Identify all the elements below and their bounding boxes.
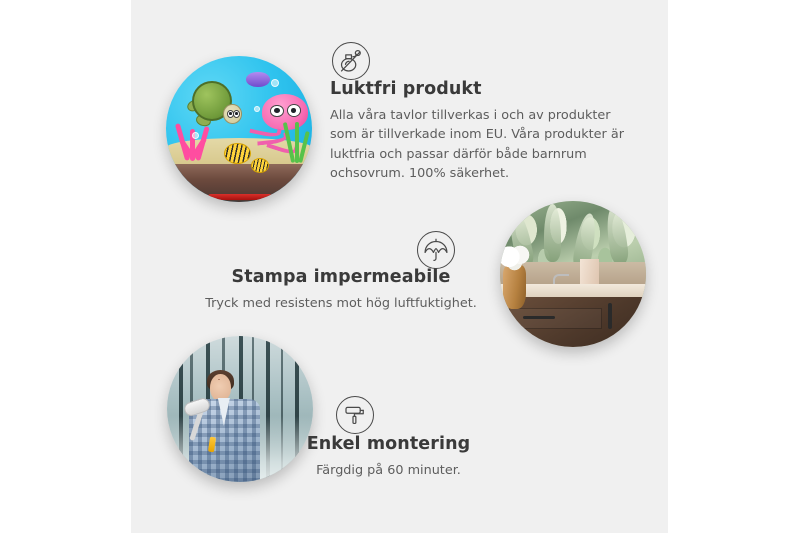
feature-heading: Luktfri produkt bbox=[330, 79, 626, 101]
octopus-eye bbox=[270, 105, 284, 118]
purple-fish bbox=[246, 72, 269, 87]
bubble bbox=[254, 106, 260, 112]
seaweed bbox=[284, 122, 307, 163]
underwater-cartoon-photo bbox=[166, 56, 312, 202]
bottom-strip bbox=[166, 164, 312, 202]
yellow-fish bbox=[251, 158, 269, 173]
content-panel: Luktfri produkt Alla våra tavlor tillver… bbox=[131, 0, 668, 533]
feature-easy-mounting-text: Enkel montering Färgdig på 60 minuter. bbox=[266, 434, 511, 480]
octopus-eye bbox=[287, 104, 301, 117]
feature-heading: Stampa impermeabile bbox=[191, 267, 491, 289]
feature-body: Tryck med resistens mot hög luftfuktighe… bbox=[191, 294, 491, 313]
red-object bbox=[207, 194, 274, 200]
no-fragrance-icon bbox=[332, 42, 370, 80]
face bbox=[210, 374, 230, 401]
vase bbox=[503, 265, 526, 309]
feature-body: Alla våra tavlor tillverkas i och av pro… bbox=[330, 106, 626, 184]
feature-waterproof-text: Stampa impermeabile Tryck med resistens … bbox=[191, 267, 491, 313]
bathroom-artwork bbox=[500, 201, 646, 347]
white-flowers bbox=[500, 245, 532, 271]
bubble bbox=[271, 79, 279, 87]
drawer-handle bbox=[523, 316, 555, 320]
promo-banner: Luktfri produkt Alla våra tavlor tillver… bbox=[0, 0, 800, 533]
paint-roller-icon bbox=[336, 396, 374, 434]
umbrella-icon bbox=[417, 231, 455, 269]
smile bbox=[218, 378, 220, 380]
turtle-head bbox=[223, 104, 242, 124]
sea-artwork bbox=[166, 56, 312, 202]
bathroom-wallpaper-photo bbox=[500, 201, 646, 347]
turtle bbox=[189, 81, 239, 125]
turtle-eye bbox=[233, 110, 240, 118]
feature-heading: Enkel montering bbox=[266, 434, 511, 456]
painter-person bbox=[187, 374, 263, 482]
door-handle bbox=[608, 303, 612, 329]
feature-body: Färgdig på 60 minuter. bbox=[266, 461, 511, 480]
feature-odourless-text: Luktfri produkt Alla våra tavlor tillver… bbox=[330, 79, 626, 184]
pink-coral bbox=[175, 123, 213, 161]
